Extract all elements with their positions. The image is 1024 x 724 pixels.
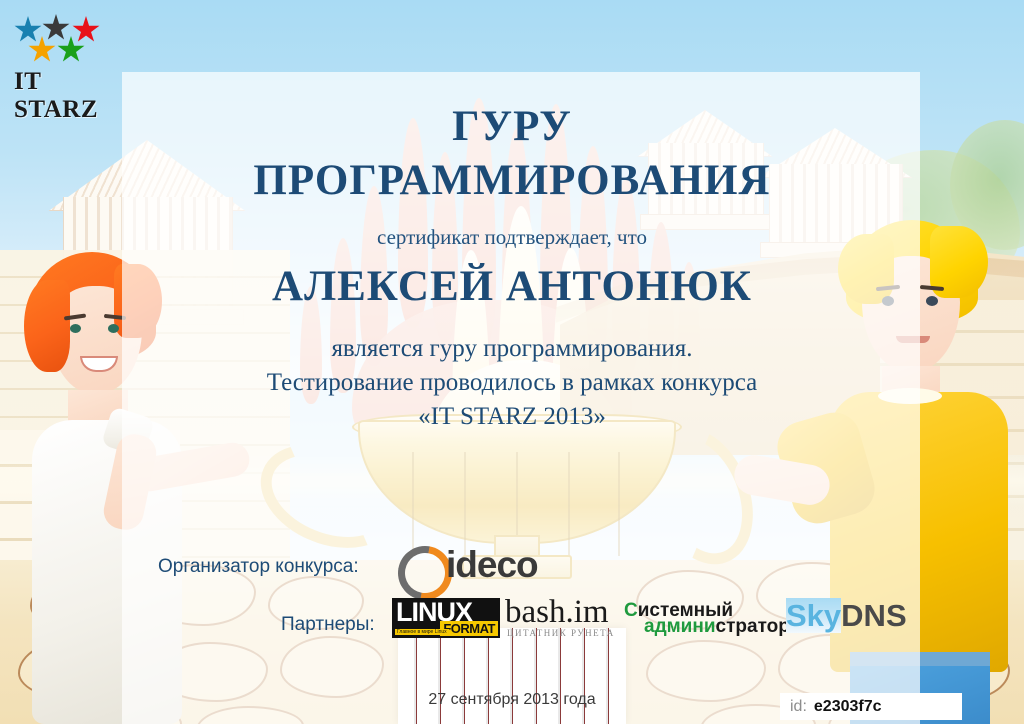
certificate-subtitle: сертификат подтверждает, что: [0, 225, 1024, 250]
skydns-part-sky: Sky: [786, 598, 841, 633]
certificate-canvas: IT STARZ ГУРУ ПРОГРАММИРОВАНИЯ сертифика…: [0, 0, 1024, 724]
star-icon-blue: [14, 16, 42, 44]
logo-bash-im[interactable]: bash.im ЦИТАТНИК РУНЕТА: [505, 598, 623, 638]
certificate-title-line1: ГУРУ: [0, 104, 1024, 149]
certificate-body-line2: Тестирование проводилось в рамках конкур…: [0, 366, 1024, 399]
certificate-body-line3: «IT STARZ 2013»: [0, 400, 1024, 433]
ideco-wordmark: ideco: [446, 544, 538, 586]
logo-linux-format[interactable]: LINUX FORMAT Главное в мире Linux: [392, 598, 500, 638]
linux-tagline: Главное в мире Linux: [395, 629, 449, 635]
sysadmin-line2: администратор: [644, 616, 790, 638]
logo-ideco[interactable]: ideco: [396, 542, 546, 590]
logo-sistemnyi-administrator[interactable]: Системный администратор: [624, 602, 784, 638]
logo-it-starz[interactable]: IT STARZ: [12, 12, 116, 98]
id-label: id:: [790, 698, 807, 716]
logo-skydns[interactable]: SkyDNS: [786, 598, 896, 636]
certificate-title-line2: ПРОГРАММИРОВАНИЯ: [0, 158, 1024, 203]
id-value: e2303f7c: [814, 698, 882, 716]
recipient-name: АЛЕКСЕЙ АНТОНЮК: [0, 262, 1024, 311]
organizer-label: Организатор конкурса:: [158, 556, 359, 578]
bash-wordmark: bash.im: [505, 594, 609, 631]
format-badge: FORMAT: [440, 621, 498, 636]
star-icon-red: [72, 16, 100, 44]
partners-label: Партнеры:: [281, 614, 375, 636]
certificate-body-line1: является гуру программирования.: [0, 332, 1024, 365]
skydns-part-dns: DNS: [841, 598, 906, 633]
star-icon-green: [57, 36, 85, 64]
star-icon-orange: [28, 36, 56, 64]
id-badge: id: e2303f7c: [780, 693, 962, 720]
bash-tagline: ЦИТАТНИК РУНЕТА: [507, 628, 615, 638]
date-banner: [398, 628, 626, 724]
star-icon-dark: [42, 14, 70, 42]
